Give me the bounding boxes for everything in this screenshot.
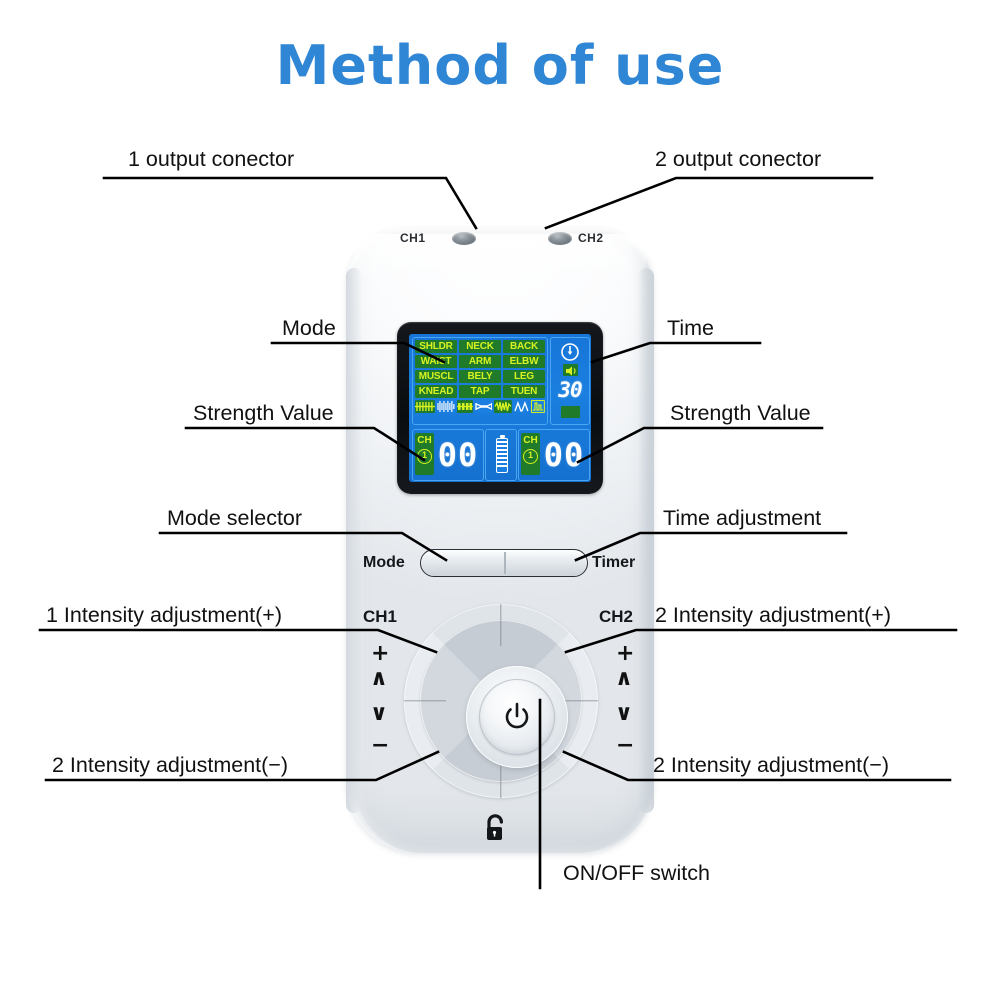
waveform-icon-row xyxy=(415,400,545,413)
callout-mode-selector: Mode selector xyxy=(167,506,302,531)
pad-divider-right xyxy=(581,700,598,701)
ring-divider-left xyxy=(420,700,446,701)
callout-time: Time xyxy=(667,316,714,341)
mode-item[interactable]: ELBW xyxy=(503,355,545,368)
callout-intensity-1-plus: 1 Intensity adjustment(+) xyxy=(46,603,282,628)
mode-item[interactable]: BACK xyxy=(503,340,545,353)
clock-icon xyxy=(560,342,580,362)
waveform-peaks-icon xyxy=(514,400,529,413)
ch1-down-symbol[interactable]: ∨ xyxy=(370,703,388,725)
channel-1-tag-text: CH xyxy=(417,435,431,446)
mode-item[interactable]: TAP xyxy=(459,385,501,398)
channel-2-tag-number: 1 xyxy=(523,449,538,464)
page-title: Method of use xyxy=(0,34,1000,97)
waveform-comb-icon xyxy=(415,400,435,413)
channel-1-panel: CH 1 00 xyxy=(412,429,484,481)
channel-2-tag: CH 1 xyxy=(521,433,540,475)
waveform-bowtie-icon xyxy=(475,400,493,413)
device-left-highlight xyxy=(346,268,362,813)
callout-time-adjustment: Time adjustment xyxy=(663,506,821,531)
callout-output-conector-2: 2 output conector xyxy=(655,147,821,172)
ch2-plus-symbol[interactable]: + xyxy=(616,643,634,665)
output-connector-ch1[interactable] xyxy=(452,232,476,245)
lcd-upper-area: SHLDR NECK BACK WAIST ARM ELBW MUSCL BEL… xyxy=(409,334,591,426)
time-panel: 30 xyxy=(550,337,590,425)
waveform-block-icon xyxy=(457,400,473,413)
intensity-ring xyxy=(420,620,582,782)
callout-intensity-2-plus: 2 Intensity adjustment(+) xyxy=(655,603,891,628)
mode-item[interactable]: WAIST xyxy=(415,355,457,368)
ch2-down-symbol[interactable]: ∨ xyxy=(615,703,633,725)
channel-1-tag: CH 1 xyxy=(415,433,434,475)
waveform-burst-icon xyxy=(494,400,512,413)
power-button[interactable] xyxy=(479,679,555,755)
mode-item[interactable]: LEG xyxy=(503,370,545,383)
mode-panel: SHLDR NECK BACK WAIST ARM ELBW MUSCL BEL… xyxy=(412,337,548,425)
pad-label-ch2: CH2 xyxy=(599,607,633,627)
mode-grid: SHLDR NECK BACK WAIST ARM ELBW MUSCL BEL… xyxy=(415,340,545,398)
ring-divider-top xyxy=(500,620,501,646)
unlock-icon xyxy=(481,812,511,851)
callout-intensity-2-minus-left: 2 Intensity adjustment(−) xyxy=(52,753,288,778)
device-right-highlight xyxy=(638,268,654,813)
callout-intensity-2-minus-right: 2 Intensity adjustment(−) xyxy=(653,753,889,778)
mode-item[interactable]: ARM xyxy=(459,355,501,368)
lcd-lower-area: CH 1 00 CH 1 00 xyxy=(409,427,591,482)
mode-timer-rocker[interactable] xyxy=(420,549,588,577)
ch1-minus-symbol[interactable]: − xyxy=(371,735,389,757)
mode-item[interactable]: MUSCL xyxy=(415,370,457,383)
port-label-ch1: CH1 xyxy=(400,231,426,245)
level-bar-icon xyxy=(561,406,580,418)
pad-divider-top xyxy=(500,604,501,621)
power-button-surround xyxy=(466,666,568,768)
control-pad xyxy=(404,604,598,798)
page-root: Method of use CH1 CH2 SHLDR NECK BACK WA… xyxy=(0,0,1000,1000)
lcd-bezel: SHLDR NECK BACK WAIST ARM ELBW MUSCL BEL… xyxy=(397,322,603,494)
callout-mode: Mode xyxy=(282,316,336,341)
channel-1-strength-value: 00 xyxy=(435,434,481,476)
channel-1-tag-number: 1 xyxy=(417,449,432,464)
callout-strength-value-left: Strength Value xyxy=(193,401,334,426)
pad-label-ch1: CH1 xyxy=(363,607,397,627)
mode-item[interactable]: KNEAD xyxy=(415,385,457,398)
battery-panel xyxy=(485,429,517,481)
rocker-divider xyxy=(504,552,506,574)
ch2-minus-symbol[interactable]: − xyxy=(616,735,634,757)
timer-value: 30 xyxy=(551,378,589,402)
callout-onoff-switch: ON/OFF switch xyxy=(563,861,710,886)
ch2-up-symbol[interactable]: ∧ xyxy=(615,668,633,690)
ch1-up-symbol[interactable]: ∧ xyxy=(370,668,388,690)
pad-divider-left xyxy=(404,700,421,701)
timer-button-label: Timer xyxy=(592,554,635,572)
port-label-ch2: CH2 xyxy=(578,231,604,245)
callout-strength-value-right: Strength Value xyxy=(670,401,811,426)
pad-divider-bottom xyxy=(500,781,501,798)
waveform-pulse-icon xyxy=(531,400,545,413)
mode-item[interactable]: SHLDR xyxy=(415,340,457,353)
mode-button-label: Mode xyxy=(363,554,405,572)
output-connector-ch2[interactable] xyxy=(548,232,572,245)
callout-output-conector-1: 1 output conector xyxy=(128,147,294,172)
power-icon xyxy=(499,699,535,735)
battery-icon xyxy=(496,438,508,473)
mode-item[interactable]: TUEN xyxy=(503,385,545,398)
mode-item[interactable]: NECK xyxy=(459,340,501,353)
lcd-screen: SHLDR NECK BACK WAIST ARM ELBW MUSCL BEL… xyxy=(409,334,591,482)
mode-item[interactable]: BELY xyxy=(459,370,501,383)
sound-icon xyxy=(563,364,578,376)
ch1-plus-symbol[interactable]: + xyxy=(371,643,389,665)
waveform-dense-icon xyxy=(437,400,455,413)
channel-2-strength-value: 00 xyxy=(541,434,587,476)
channel-2-panel: CH 1 00 xyxy=(518,429,590,481)
channel-2-tag-text: CH xyxy=(523,435,537,446)
